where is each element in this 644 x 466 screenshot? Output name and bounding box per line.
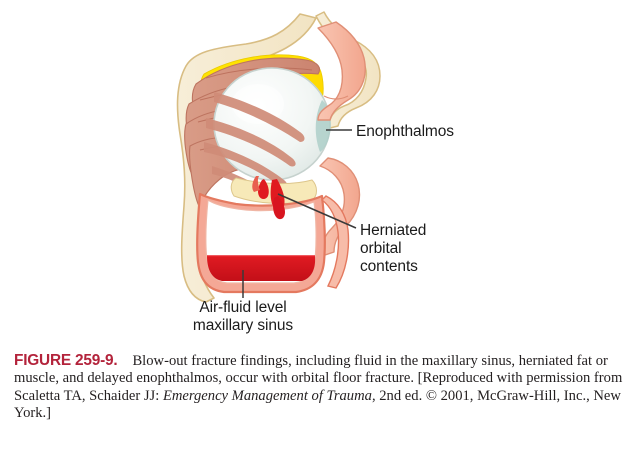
figure-number: FIGURE 259-9. [14,352,132,369]
anatomical-illustration: Enophthalmos Herniated orbital contents … [0,0,644,345]
label-enophthalmos-line-0: Enophthalmos [356,123,454,140]
figure-caption: FIGURE 259-9. Blow-out fracture findings… [14,352,632,423]
label-herniated-line-2: contents [360,258,418,275]
label-herniated-line-0: Herniated [360,222,426,239]
label-herniated-orbital-contents: Herniated orbital contents [360,222,426,275]
label-airfluid-line-1: maxillary sinus [193,317,293,334]
label-air-fluid-level-maxillary-sinus: Air-fluid level maxillary sinus [193,299,293,334]
label-enophthalmos: Enophthalmos [356,123,454,140]
label-airfluid-line-0: Air-fluid level [199,299,286,316]
label-herniated-line-1: orbital [360,240,402,257]
blood-fluid-level [207,256,315,281]
caption-source-title: Emergency Management of Trauma [163,388,372,404]
figure-container: Enophthalmos Herniated orbital contents … [0,0,644,466]
